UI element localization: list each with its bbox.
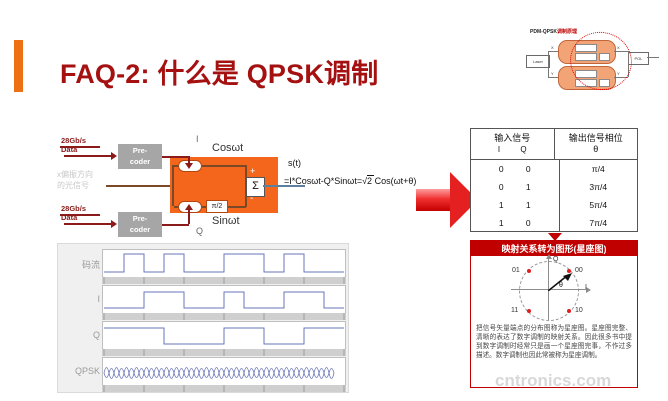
waveform-figure: 码流 I Q QPSK <box>57 243 349 393</box>
constellation-point-11 <box>527 309 531 313</box>
optical-input-line <box>106 185 170 187</box>
slide-root: FAQ-2: 什么是 QPSK调制 PDM-QPSK调制原理 Laser POL… <box>0 0 668 401</box>
table-cell-iq: 1 0 <box>471 214 560 232</box>
equation-text: =I*Cosωt-Q*Sinωt=√2 Cos(ωt+θ) <box>284 176 416 186</box>
table-cell-iq: 0 1 <box>471 178 560 196</box>
table-header-input-sub: I Q <box>489 144 536 155</box>
constellation-banner: 映射关系转为图形(星座图) <box>471 241 637 256</box>
table-cell-iq: 0 0 <box>471 160 560 178</box>
equation-suffix: Cos(ωt+θ) <box>372 176 416 186</box>
thumbnail-link-3 <box>548 51 549 77</box>
constellation-panel: 映射关系转为图形(星座图) Q I θ 00 01 11 10 把信号矢量端点的… <box>470 240 638 388</box>
truth-table: 输入信号 I Q 输出信号相位 θ 0 0 π/4 0 1 3π/4 1 1 5… <box>470 128 638 232</box>
angle-label: θ <box>559 282 563 289</box>
constellation-point-10 <box>567 309 571 313</box>
table-cell-iq: 1 1 <box>471 196 560 214</box>
table-cell-theta: π/4 <box>560 160 638 178</box>
carrier-cos-label: Cosωt <box>212 142 243 154</box>
table-header-input: 输入信号 I Q <box>471 129 555 159</box>
thumbnail-caption-suffix: 调制原理 <box>557 29 577 35</box>
sqrt-value: 2 <box>367 176 372 186</box>
page-title: FAQ-2: 什么是 QPSK调制 <box>60 52 378 91</box>
output-signal-label: s(t) <box>288 158 474 168</box>
table-cell-theta: 3π/4 <box>560 178 638 196</box>
constellation-label-10: 10 <box>575 307 583 314</box>
summer-plus-sign: + <box>250 166 255 176</box>
precoder-top-line2: coder <box>130 157 150 166</box>
branch-i-label: I <box>196 134 199 144</box>
table-header-output-sub: θ <box>593 144 598 155</box>
summer: Σ <box>246 177 265 197</box>
constellation-point-00 <box>567 269 571 273</box>
thumbnail-output-link <box>647 57 659 58</box>
title-accent-bar <box>14 40 23 92</box>
precoder-top-line1: Pre- <box>133 146 148 155</box>
flow-arrow-right <box>416 172 478 228</box>
drive-arrow-i <box>188 156 190 164</box>
sqrt-group: √2 <box>362 176 372 186</box>
table-header-output: 输出信号相位 θ <box>555 129 638 159</box>
input-top-arrow <box>64 155 112 157</box>
constellation-label-11: 11 <box>511 307 518 314</box>
input-bottom-underline <box>60 214 100 216</box>
watermark: cntronics.com <box>495 371 611 391</box>
constellation-plot: Q I θ 00 01 11 10 <box>471 256 637 321</box>
input-bottom-arrow <box>64 223 112 225</box>
thumbnail-port-y: Y <box>551 71 554 76</box>
thumbnail-caption-prefix: PDM-QPSK <box>530 29 557 35</box>
table-cell-theta: 7π/4 <box>560 214 638 232</box>
axis-label-i: I <box>585 284 587 291</box>
table-row: 0 1 3π/4 <box>471 178 637 196</box>
thumbnail-link-1 <box>548 51 558 52</box>
optical-input-line2: 的光信号 <box>57 181 89 190</box>
constellation-description: 把信号矢量端点的分布图称为星座图。星座图完整、清晰的表达了数字调制的映射关系。因… <box>471 321 637 360</box>
constellation-label-01: 01 <box>512 267 520 274</box>
precoder-top: Pre- coder <box>118 144 162 169</box>
table-header-input-title: 输入信号 <box>494 133 530 144</box>
summer-minus-sign: - <box>250 193 253 204</box>
drive-line-q <box>162 224 189 226</box>
thumbnail-link-2 <box>548 77 558 78</box>
axis-label-q: Q <box>553 256 558 263</box>
precoder-bottom-line1: Pre- <box>133 214 148 223</box>
constellation-label-00: 00 <box>575 267 583 274</box>
table-cell-theta: 5π/4 <box>560 196 638 214</box>
output-equation: s(t) =I*Cosωt-Q*Sinωt=√2 Cos(ωt+θ) <box>284 158 474 168</box>
input-top-underline <box>60 146 100 148</box>
equation-prefix: =I*Cosωt-Q*Sinωt= <box>284 176 362 186</box>
pdm-qpsk-thumbnail: PDM-QPSK调制原理 Laser POL X Y X Y <box>524 22 660 94</box>
path-bot-out <box>226 206 246 208</box>
path-top-out <box>200 165 246 167</box>
branch-q-label: Q <box>196 226 203 236</box>
table-header-output-title: 输出信号相位 <box>569 133 623 144</box>
optical-input-label: x偏振方向 的光信号 <box>57 169 109 191</box>
phase-shifter: π/2 <box>206 200 228 213</box>
drive-line-i <box>162 156 189 158</box>
thumbnail-caption: PDM-QPSK调制原理 <box>530 28 577 35</box>
optical-input-line1: x偏振方向 <box>57 170 93 179</box>
precoder-bottom-line2: coder <box>130 225 150 234</box>
drive-arrow-q <box>188 209 190 224</box>
modulator-schematic: 28Gb/s Data 28Gb/s Data Pre- coder Pre- … <box>56 131 306 246</box>
carrier-sin-label: Sinωt <box>212 215 240 227</box>
table-row: 0 0 π/4 <box>471 160 637 178</box>
table-row: 1 0 7π/4 <box>471 214 637 232</box>
constellation-point-01 <box>527 269 531 273</box>
thumbnail-port-x: X <box>551 45 554 50</box>
precoder-bottom: Pre- coder <box>118 212 162 237</box>
thumbnail-laser: Laser <box>526 55 550 68</box>
table-row: 1 1 5π/4 <box>471 196 637 214</box>
waveform-traces <box>58 244 350 394</box>
table-header-row: 输入信号 I Q 输出信号相位 θ <box>471 129 637 160</box>
path-splitter <box>172 165 174 206</box>
